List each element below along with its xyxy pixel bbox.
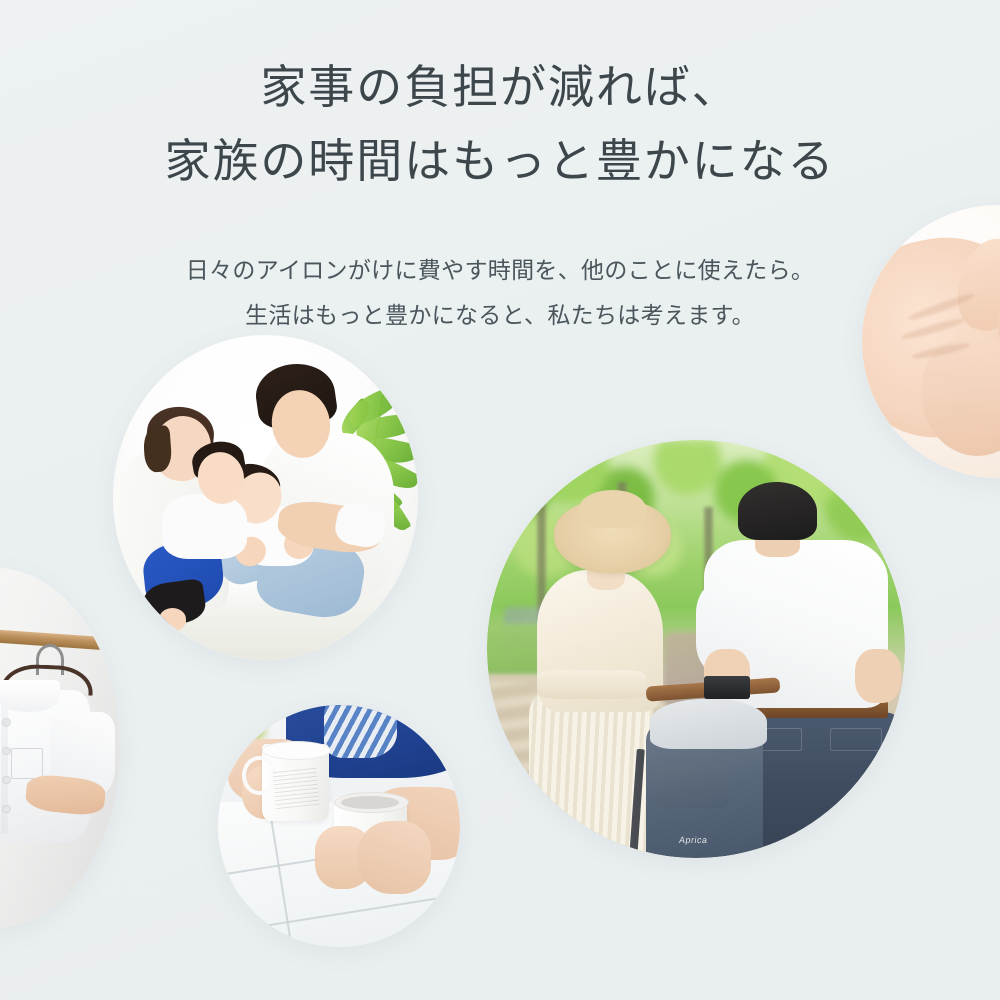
shirt-hanger-photo-circle [0, 568, 120, 928]
page-subtitle: 日々のアイロンがけに費やす時間を、他のことに使えたら。 生活はもっと豊かになると… [0, 207, 1000, 339]
park-stroller-photo-circle: Aprica [487, 440, 905, 858]
family-photo-circle [113, 335, 418, 660]
subhead-line-2: 生活はもっと豊かになると、私たちは考えます。 [0, 294, 1000, 339]
hero-section: 家事の負担が減れば、 家族の時間はもっと豊かになる 日々のアイロンがけに費やす時… [0, 0, 1000, 1000]
headline-line-1: 家事の負担が減れば、 [0, 21, 1000, 111]
coffee-cups-photo-circle [218, 705, 460, 947]
headline-line-2: 家族の時間はもっと豊かになる [0, 111, 1000, 185]
page-title: 家事の負担が減れば、 家族の時間はもっと豊かになる [0, 21, 1000, 185]
hero-text-block: 家事の負担が減れば、 家族の時間はもっと豊かになる 日々のアイロンがけに費やす時… [0, 0, 1000, 355]
stroller-brand-logo: Aprica [679, 835, 709, 845]
subhead-line-1: 日々のアイロンがけに費やす時間を、他のことに使えたら。 [0, 249, 1000, 294]
